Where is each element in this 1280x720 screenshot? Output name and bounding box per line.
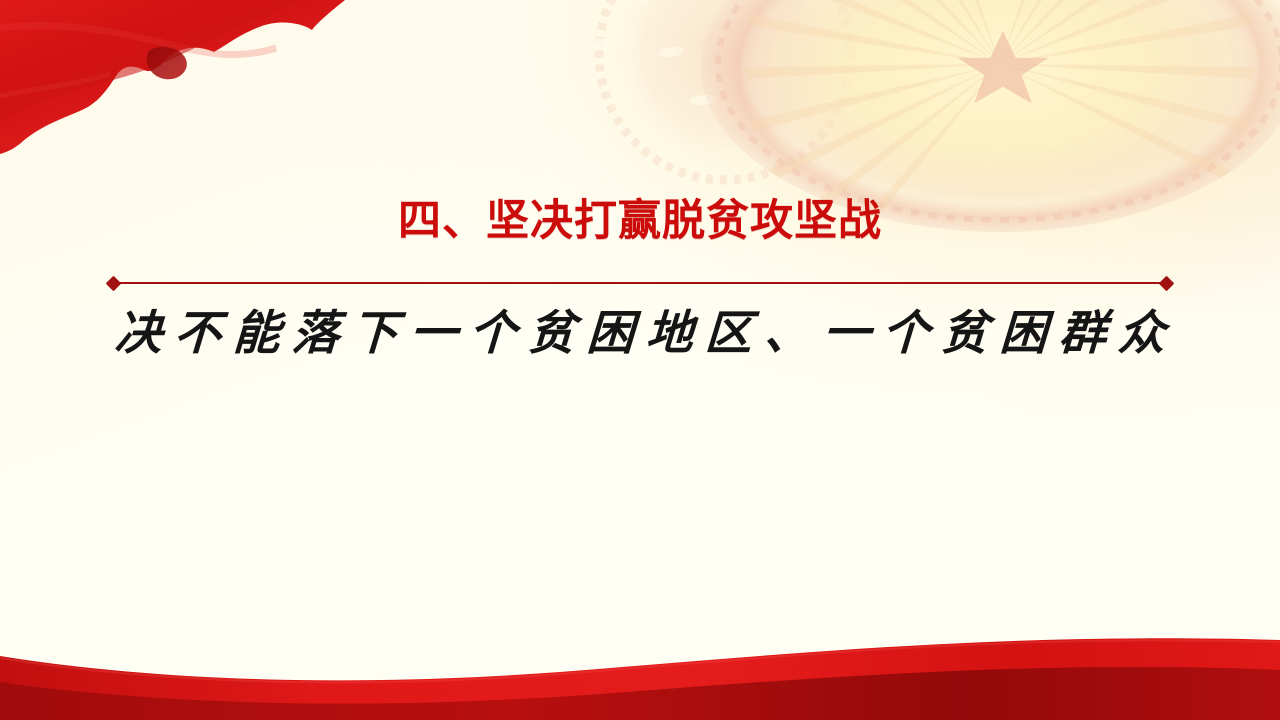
title-divider: [108, 275, 1172, 291]
slide-canvas: 四、坚决打赢脱贫攻坚战 决不能落下一个贫困地区、一个贫困群众: [0, 0, 1280, 720]
page-title: 四、坚决打赢脱贫攻坚战: [0, 198, 1280, 245]
slide-content: 四、坚决打赢脱贫攻坚战 决不能落下一个贫困地区、一个贫困群众: [0, 0, 1280, 720]
divider-rule: [116, 282, 1164, 284]
subtitle-text: 决不能落下一个贫困地区、一个贫困群众: [0, 305, 1280, 364]
divider-diamond-right-icon: [1159, 276, 1175, 292]
